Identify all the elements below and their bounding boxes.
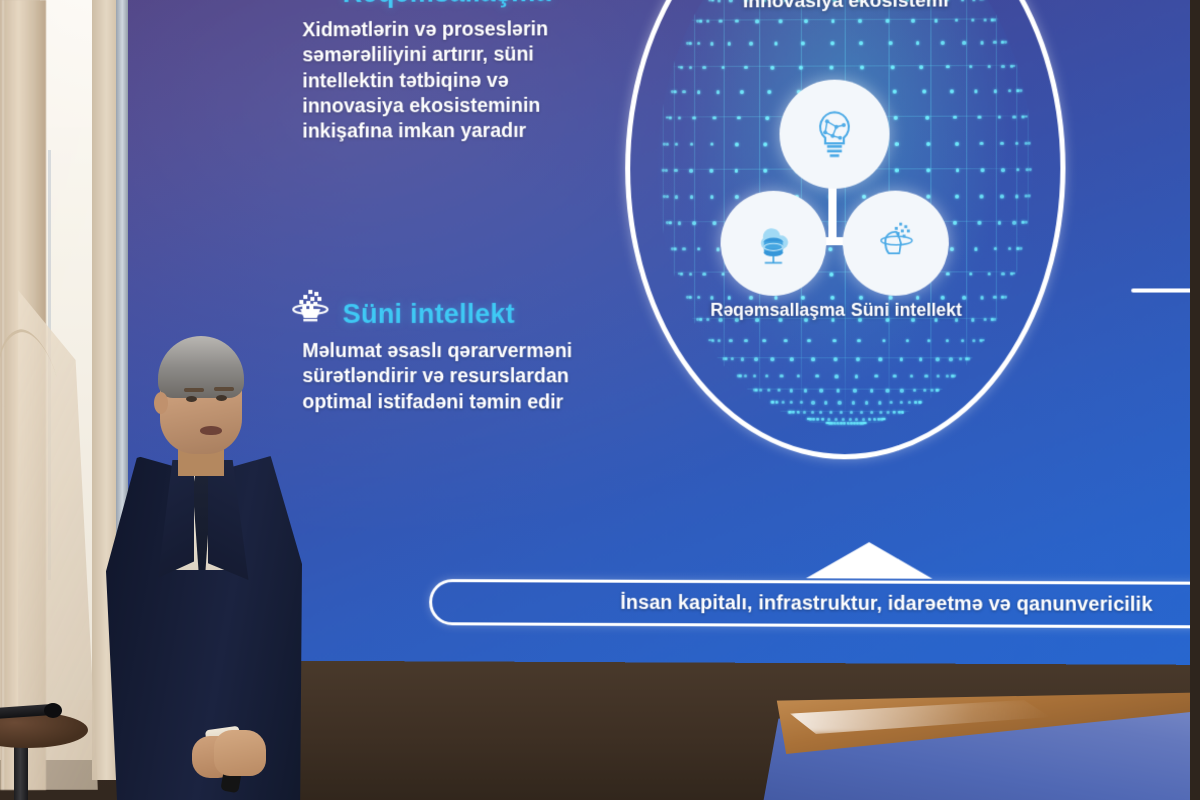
eyebrow-left [184, 388, 204, 392]
right-wall-edge [1190, 0, 1200, 800]
ai-head-icon [288, 286, 332, 330]
node-ai [843, 191, 949, 296]
topic-body: Xidmətlərin və proseslərin səmərəliliyin… [302, 17, 621, 145]
screenshot-stage: Rəqəmsallaşma Xidmətlərin və proseslərin… [0, 0, 1200, 800]
eye-left [186, 396, 197, 402]
mouth [200, 426, 222, 435]
globe-sphere [658, 0, 1033, 427]
globe-diagram: İnnovasiya ekosistemi Rəqəmsallaşma Süni… [625, 0, 1065, 460]
sphere-dot-field [658, 0, 1033, 427]
up-arrow-icon [806, 542, 932, 579]
ear [154, 392, 168, 414]
node-digitalisation [721, 191, 827, 296]
topic-header: Rəqəmsallaşma [288, 0, 621, 9]
foundation-banner: İnsan kapitalı, infrastruktur, idarəetmə… [429, 579, 1200, 629]
side-table-stem [14, 740, 28, 800]
node-label-digitalisation: Rəqəmsallaşma [710, 300, 845, 321]
topic-title: Süni intellekt [343, 299, 515, 330]
topic-title: Rəqəmsallaşma [343, 0, 551, 9]
node-innovation [780, 79, 890, 188]
topic-header: Süni intellekt [288, 286, 631, 330]
topic-block-digitalisation: Rəqəmsallaşma Xidmətlərin və proseslərin… [288, 0, 621, 145]
sphere-label: İnnovasiya ekosistemi [743, 0, 949, 13]
cloud-database-icon [288, 0, 332, 9]
hand-right [214, 730, 266, 776]
microphone-head [44, 703, 62, 718]
foundation-banner-text: İnsan kapitalı, infrastruktur, idarəetmə… [620, 591, 1152, 616]
lightbulb-network-icon [805, 105, 864, 164]
cloud-database-icon [746, 216, 801, 271]
eyebrow-right [214, 387, 234, 391]
node-label-ai: Süni intellekt [851, 300, 962, 321]
node-link-vertical [828, 181, 836, 244]
ai-head-icon [868, 216, 923, 271]
presenter [96, 330, 306, 800]
topic-body: Məlumat əsaslı qərarverməni sürətləndiri… [302, 339, 631, 416]
topic-block-ai: Süni intellekt Məlumat əsaslı qərarvermə… [288, 286, 631, 416]
eye-right [216, 395, 227, 401]
